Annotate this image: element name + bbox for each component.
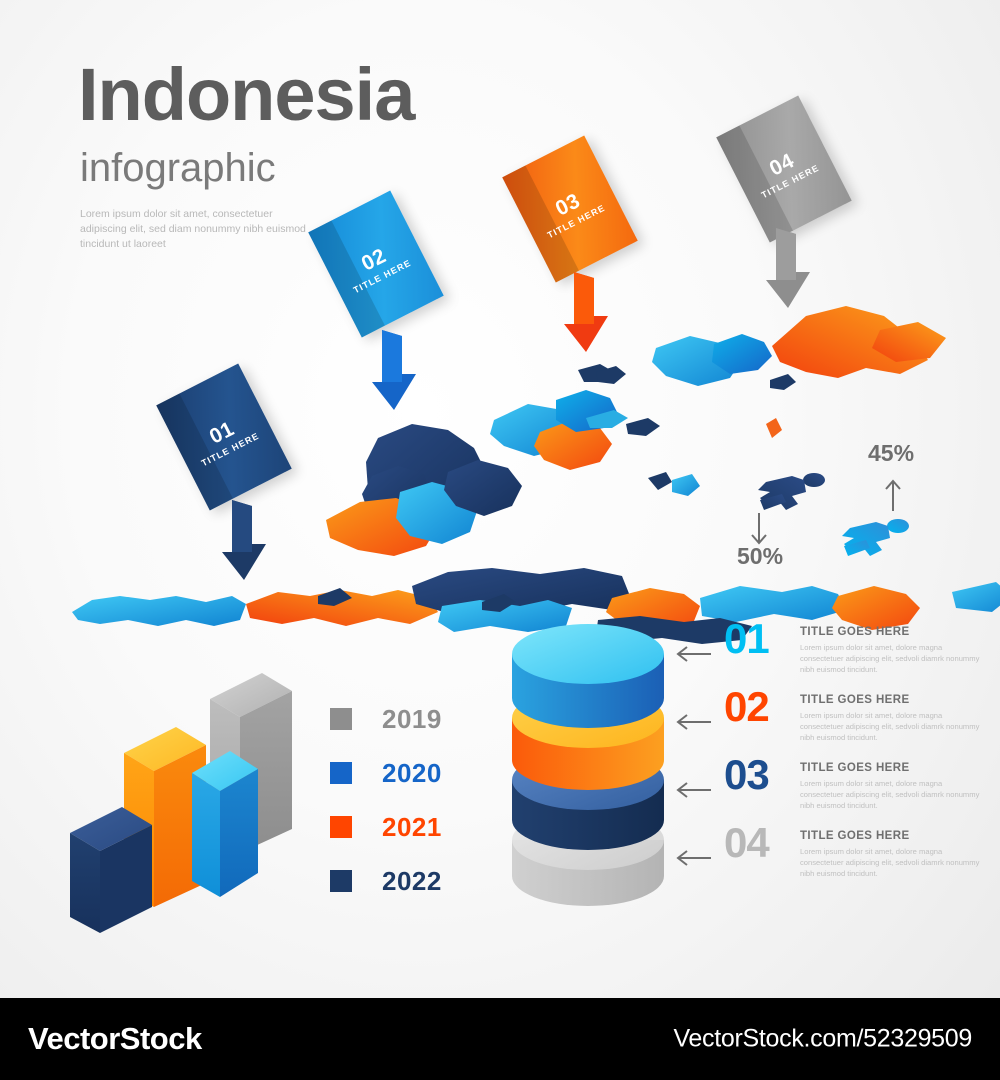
list-item[interactable]: 01 TITLE GOES HERE Lorem ipsum dolor sit… xyxy=(676,624,1000,692)
list-item-number: 02 xyxy=(724,686,769,728)
legend-item[interactable]: 2022 xyxy=(330,854,442,908)
legend-label-2019: 2019 xyxy=(382,704,442,735)
step-card-03[interactable]: 03 TITLE HERE xyxy=(502,136,638,283)
arrow-left-icon xyxy=(676,646,712,662)
legend-swatch-2021 xyxy=(330,816,352,838)
person-icon-light xyxy=(836,516,912,568)
list-item-number: 01 xyxy=(724,618,769,660)
list-item-title: TITLE GOES HERE xyxy=(800,830,910,842)
legend-swatch-2020 xyxy=(330,762,352,784)
list-item-body: Lorem ipsum dolor sit amet, dolore magna… xyxy=(800,779,985,811)
step-card-04[interactable]: 04 TITLE HERE xyxy=(716,96,852,243)
down-arrow-icon-01 xyxy=(218,500,270,580)
arrow-down-icon xyxy=(748,512,770,546)
down-arrow-icon-02 xyxy=(368,330,420,410)
legend-item[interactable]: 2019 xyxy=(330,692,442,746)
legend-item[interactable]: 2020 xyxy=(330,746,442,800)
legend-label-2021: 2021 xyxy=(382,812,442,843)
page-title: Indonesia xyxy=(78,58,414,132)
stat-value-45: 45% xyxy=(868,440,914,467)
arrow-left-icon xyxy=(676,782,712,798)
chart-legend: 2019 2020 2021 2022 xyxy=(330,692,442,908)
footer-bar: VectorStock VectorStock.com/52329509 xyxy=(0,998,1000,1080)
list-item[interactable]: 04 TITLE GOES HERE Lorem ipsum dolor sit… xyxy=(676,828,1000,896)
list-item-body: Lorem ipsum dolor sit amet, dolore magna… xyxy=(800,643,985,675)
stat-value-50: 50% xyxy=(737,543,783,570)
list-item-number: 04 xyxy=(724,822,769,864)
numbered-list: 01 TITLE GOES HERE Lorem ipsum dolor sit… xyxy=(676,624,1000,896)
down-arrow-icon-04 xyxy=(762,228,814,308)
down-arrow-icon-03 xyxy=(560,272,612,352)
list-item-title: TITLE GOES HERE xyxy=(800,762,910,774)
list-item-body: Lorem ipsum dolor sit amet, dolore magna… xyxy=(800,847,985,879)
list-item[interactable]: 03 TITLE GOES HERE Lorem ipsum dolor sit… xyxy=(676,760,1000,828)
bar-chart-3d xyxy=(62,655,332,945)
brand-name: VectorStock xyxy=(28,1021,202,1057)
arrow-left-icon xyxy=(676,714,712,730)
page-subtitle: infographic xyxy=(80,148,276,188)
legend-swatch-2022 xyxy=(330,870,352,892)
legend-swatch-2019 xyxy=(330,708,352,730)
intro-paragraph: Lorem ipsum dolor sit amet, consectetuer… xyxy=(80,207,315,253)
step-card-02[interactable]: 02 TITLE HERE xyxy=(308,191,444,338)
list-item-body: Lorem ipsum dolor sit amet, dolore magna… xyxy=(800,711,985,743)
stock-url: VectorStock.com/52329509 xyxy=(673,1025,972,1054)
legend-label-2020: 2020 xyxy=(382,758,442,789)
list-item[interactable]: 02 TITLE GOES HERE Lorem ipsum dolor sit… xyxy=(676,692,1000,760)
arrow-left-icon xyxy=(676,850,712,866)
list-item-title: TITLE GOES HERE xyxy=(800,626,910,638)
list-item-number: 03 xyxy=(724,754,769,796)
infographic-canvas: Indonesia infographic Lorem ipsum dolor … xyxy=(0,0,1000,1080)
legend-label-2022: 2022 xyxy=(382,866,442,897)
cylinder-stack xyxy=(498,608,678,908)
step-card-01[interactable]: 01 TITLE HERE xyxy=(156,364,292,511)
legend-item[interactable]: 2021 xyxy=(330,800,442,854)
list-item-title: TITLE GOES HERE xyxy=(800,694,910,706)
arrow-up-icon xyxy=(882,478,904,512)
